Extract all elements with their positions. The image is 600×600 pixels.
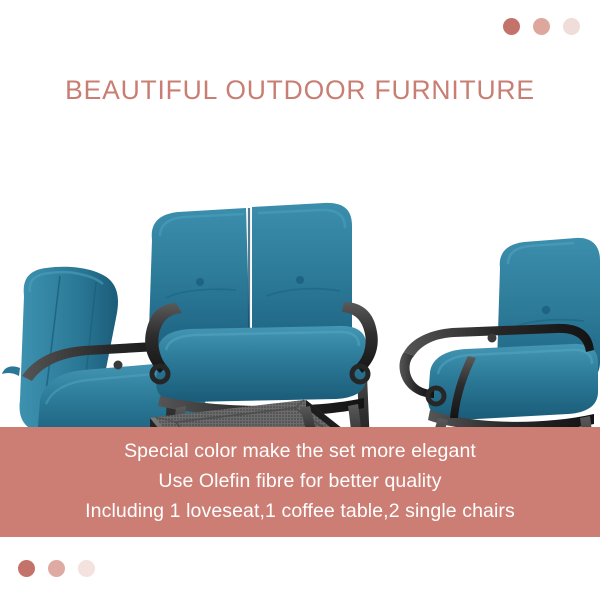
feature-line-3: Including 1 loveseat,1 coffee table,2 si…: [85, 498, 515, 526]
chair-right: [400, 238, 600, 440]
decorative-dots-top-right: [503, 18, 580, 35]
dot-1: [18, 560, 35, 577]
decorative-dots-bottom-left: [18, 560, 95, 577]
feature-banner: Special color make the set more elegant …: [0, 427, 600, 537]
loveseat: [145, 203, 378, 440]
dot-2: [48, 560, 65, 577]
product-image: [0, 100, 600, 440]
feature-line-1: Special color make the set more elegant: [124, 438, 476, 466]
dot-2: [533, 18, 550, 35]
dot-3: [563, 18, 580, 35]
dot-1: [503, 18, 520, 35]
advertisement-canvas: BEAUTIFUL OUTDOOR FURNITURE: [0, 0, 600, 600]
feature-line-2: Use Olefin fibre for better quality: [158, 468, 441, 496]
dot-3: [78, 560, 95, 577]
